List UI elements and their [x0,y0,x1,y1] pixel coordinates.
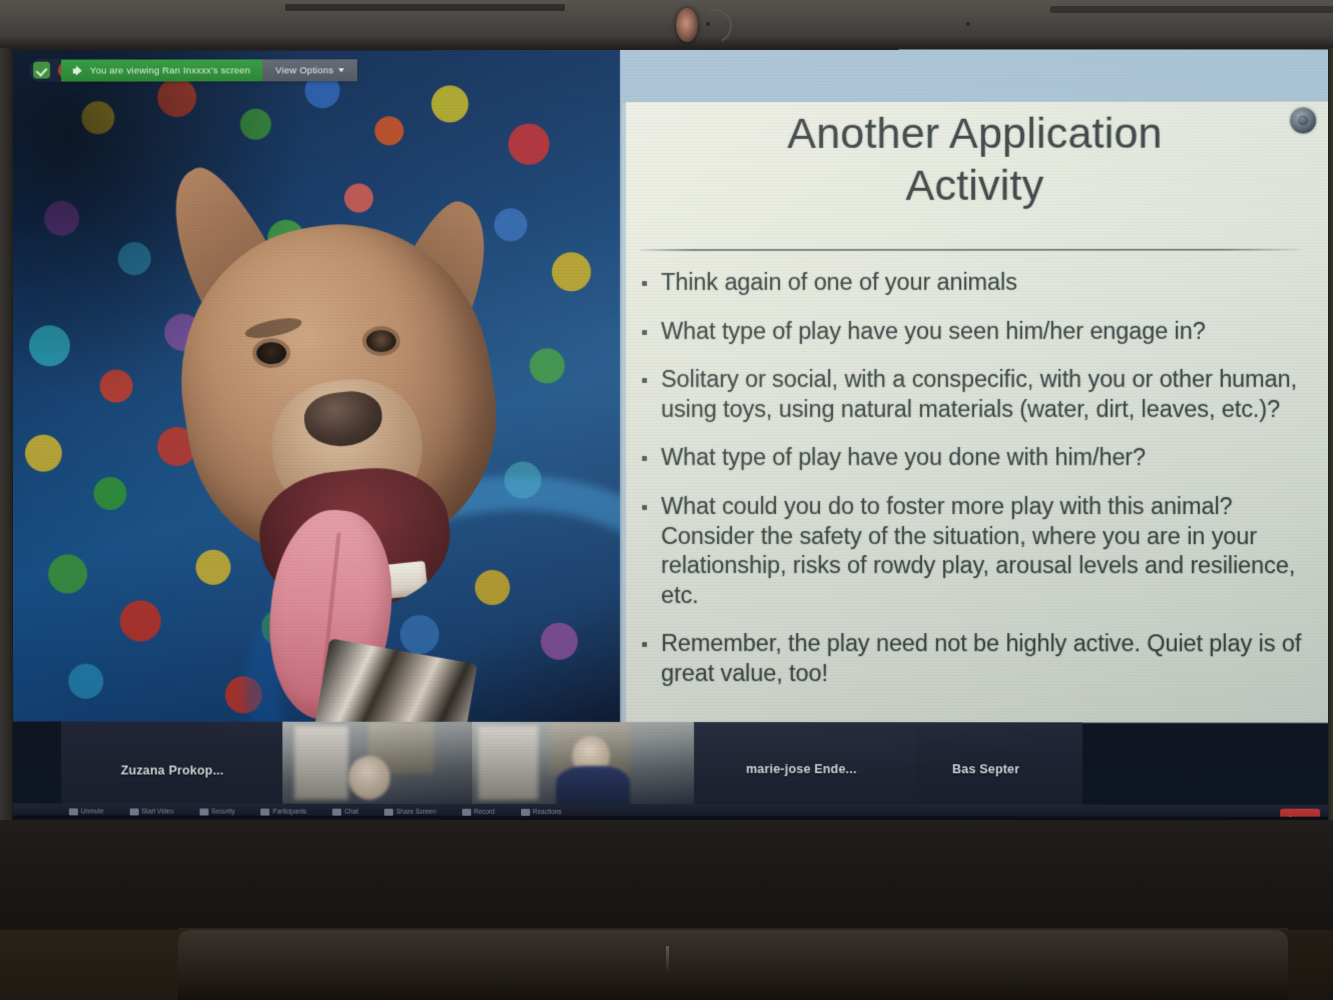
participant-filmstrip: Zuzana Prokop... marie-jose Ende... Bas … [61,722,1082,805]
view-options-button[interactable]: View Options [263,59,358,81]
video-background [478,726,538,800]
bullet-dot-icon [642,281,647,286]
list-item: Remember, the play need not be highly ac… [642,629,1323,689]
dog-photo [153,170,552,690]
camera-icon [130,808,139,815]
microphone-icon [69,808,78,815]
toolbar-label: Start Video [142,808,174,815]
list-item: What type of play have you seen him/her … [642,316,1323,346]
bezel-vent-left [285,4,565,11]
video-background [294,726,348,800]
toolbar-chat-button[interactable]: Chat [333,808,359,815]
powerpoint-slide: Another Application Activity Think again… [622,101,1328,722]
bullet-text: Solitary or social, with a conspecific, … [661,365,1323,424]
participant-face [348,756,390,800]
toolbar-label: Reactions [533,808,562,815]
slide-title-line2: Activity [662,160,1288,213]
laptop-photo: Recording... Another Application Activit… [0,0,1333,1000]
chat-bubble-icon [333,808,342,815]
bullet-dot-icon [642,378,647,383]
security-shield-icon[interactable] [33,62,50,79]
laptop-webcam-icon [676,8,698,42]
toolbar-label: Security [211,808,234,815]
participant-tile[interactable]: marie-jose Ende... [694,722,914,804]
list-item: What could you do to foster more play wi… [642,492,1323,611]
webcam-reflection [693,4,737,48]
deck-seam [178,928,1288,930]
shield-icon [199,808,208,815]
presenter-camera-icon[interactable] [1290,107,1316,133]
bezel-vent-right [1050,6,1333,13]
dog-eye-left [256,342,286,364]
toolbar-reactions-button[interactable]: Reactions [521,808,562,815]
participant-tile[interactable] [282,722,472,804]
bullet-dot-icon [642,642,647,647]
toolbar-participants-button[interactable]: Participants [261,808,307,815]
toolbar-label: Chat [345,808,359,815]
list-item: Think again of one of your animals [642,268,1323,298]
desk-surface-left [0,930,186,1000]
speaker-icon [73,65,84,76]
toolbar-video-button[interactable]: Start Video [130,808,174,815]
screen-share-banner: You are viewing Ran Inxxxx's screen View… [61,59,358,81]
bullet-text: Think again of one of your animals [661,268,1017,298]
share-screen-icon [384,808,393,815]
toolbar-label: Participants [273,808,307,815]
bullet-dot-icon [642,505,647,510]
slide-title-line1: Another Application [662,107,1288,160]
bullet-text: Remember, the play need not be highly ac… [661,629,1323,689]
laptop-palmrest [178,930,1288,1000]
participant-tile[interactable]: Bas Septer [914,722,1082,804]
share-notice: You are viewing Ran Inxxxx's screen [61,59,263,81]
participant-name: marie-jose Ende... [738,758,914,780]
list-item: What type of play have you done with him… [642,443,1323,473]
shared-slide-photo: Recording... [13,50,620,722]
toolbar-record-button[interactable]: Record [462,808,495,815]
people-icon [261,808,270,815]
bullet-dot-icon [642,456,647,461]
participant-name: Zuzana Prokop... [113,759,283,781]
chevron-down-icon [339,68,345,72]
list-item: Solitary or social, with a conspecific, … [642,365,1323,424]
view-options-label: View Options [276,65,334,76]
laptop-left-bezel [0,48,12,820]
participant-name [472,796,694,804]
slide-bullet-list: Think again of one of your animals What … [642,268,1323,709]
toolbar-label: Record [474,808,495,815]
toolbar-security-button[interactable]: Security [199,808,234,815]
slide-title-divider [640,249,1301,251]
record-icon [462,808,471,815]
bullet-text: What type of play have you done with him… [661,443,1146,473]
shared-slide-panel: Another Application Activity Think again… [620,49,1328,722]
participant-name [282,796,472,804]
laptop-screen: Recording... Another Application Activit… [13,49,1328,820]
toolbar-label: Share Screen [396,808,436,815]
bullet-text: What type of play have you seen him/her … [661,316,1205,346]
participant-name: Bas Septer [944,758,1082,780]
participant-tile[interactable]: Zuzana Prokop... [61,722,282,804]
microphone-hole-right [966,22,970,26]
toolbar-share-button[interactable]: Share Screen [384,808,436,815]
share-notice-text: You are viewing Ran Inxxxx's screen [90,65,251,76]
trackpad-highlight [666,946,669,974]
toolbar-mute-button[interactable]: Unmute [69,808,104,815]
bullet-dot-icon [642,330,647,335]
laptop-top-bezel [0,0,1333,48]
dog-eye-right [366,330,396,352]
slide-title: Another Application Activity [662,107,1288,212]
slide-left-accent [622,102,626,722]
participant-tile[interactable] [472,722,694,804]
bullet-text: What could you do to foster more play wi… [661,492,1323,611]
toolbar-label: Unmute [81,808,104,815]
reactions-icon [521,808,530,815]
